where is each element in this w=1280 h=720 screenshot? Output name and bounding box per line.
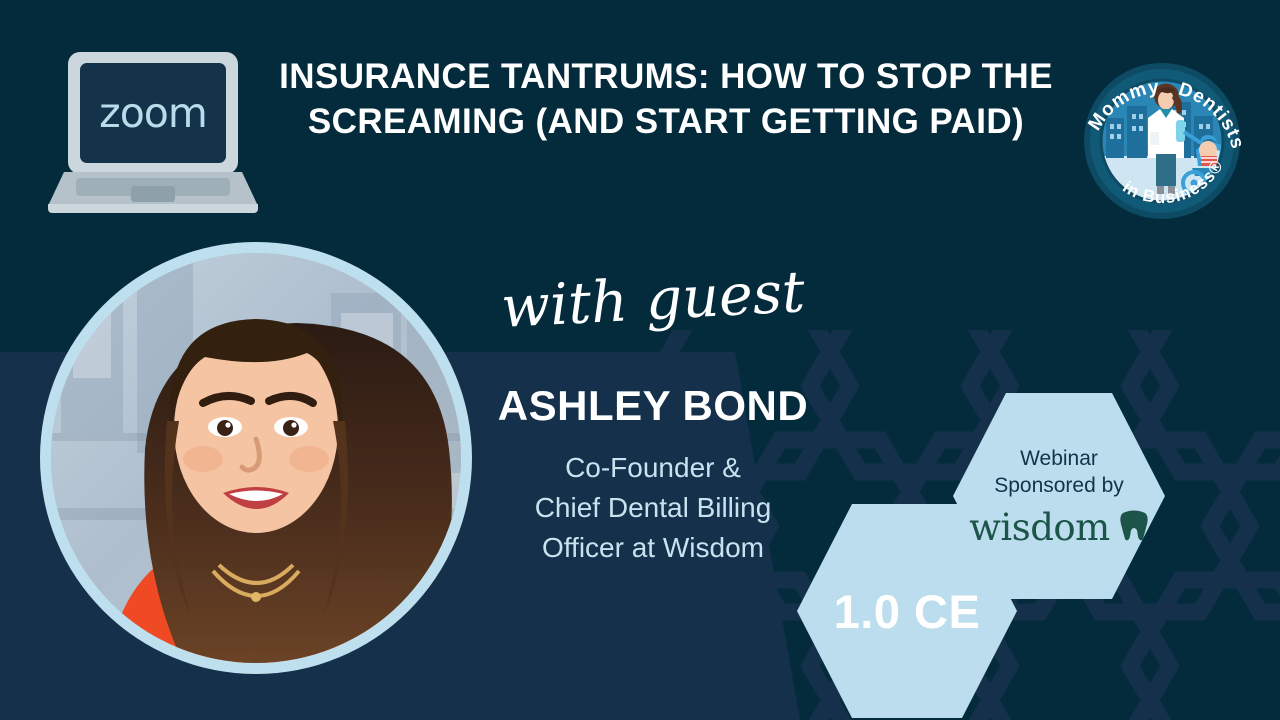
sponsor-label-line-2: Sponsored by xyxy=(994,473,1124,500)
speaker-role-line-2: Chief Dental Billing xyxy=(428,488,878,528)
sponsor-label: Webinar Sponsored by xyxy=(994,446,1124,500)
ce-credit-value: 1.0 CE xyxy=(834,584,981,639)
wisdom-logo: wisdom xyxy=(969,509,1149,546)
speaker-role-line-3: Officer at Wisdom xyxy=(428,528,878,568)
sponsor-label-line-1: Webinar xyxy=(994,446,1124,473)
promo-graphic: zoom INSURANCE TANTRUMS: HOW TO STOP THE… xyxy=(0,0,1280,720)
speaker-role-line-1: Co-Founder & xyxy=(428,448,878,488)
title-line-1: INSURANCE TANTRUMS: HOW TO STOP THE xyxy=(246,55,1086,100)
page-title: INSURANCE TANTRUMS: HOW TO STOP THE SCRE… xyxy=(246,55,1086,145)
laptop-screen: zoom xyxy=(80,63,226,163)
avatar xyxy=(40,242,472,674)
zoom-wordmark: zoom xyxy=(99,89,207,137)
wisdom-wordmark: wisdom xyxy=(969,509,1110,546)
laptop-lid: zoom xyxy=(68,52,238,174)
zoom-laptop-icon: zoom xyxy=(48,52,258,220)
title-line-2: SCREAMING (AND START GETTING PAID) xyxy=(246,100,1086,145)
laptop-foot xyxy=(48,204,258,213)
ashley-bond-headshot xyxy=(51,253,461,663)
speaker-role: Co-Founder & Chief Dental Billing Office… xyxy=(428,448,878,567)
laptop-trackpad xyxy=(131,186,175,202)
mommy-dentists-in-business-logo: Mommy Dentists in Business® xyxy=(1072,46,1252,231)
speaker-name: ASHLEY BOND xyxy=(438,382,868,430)
